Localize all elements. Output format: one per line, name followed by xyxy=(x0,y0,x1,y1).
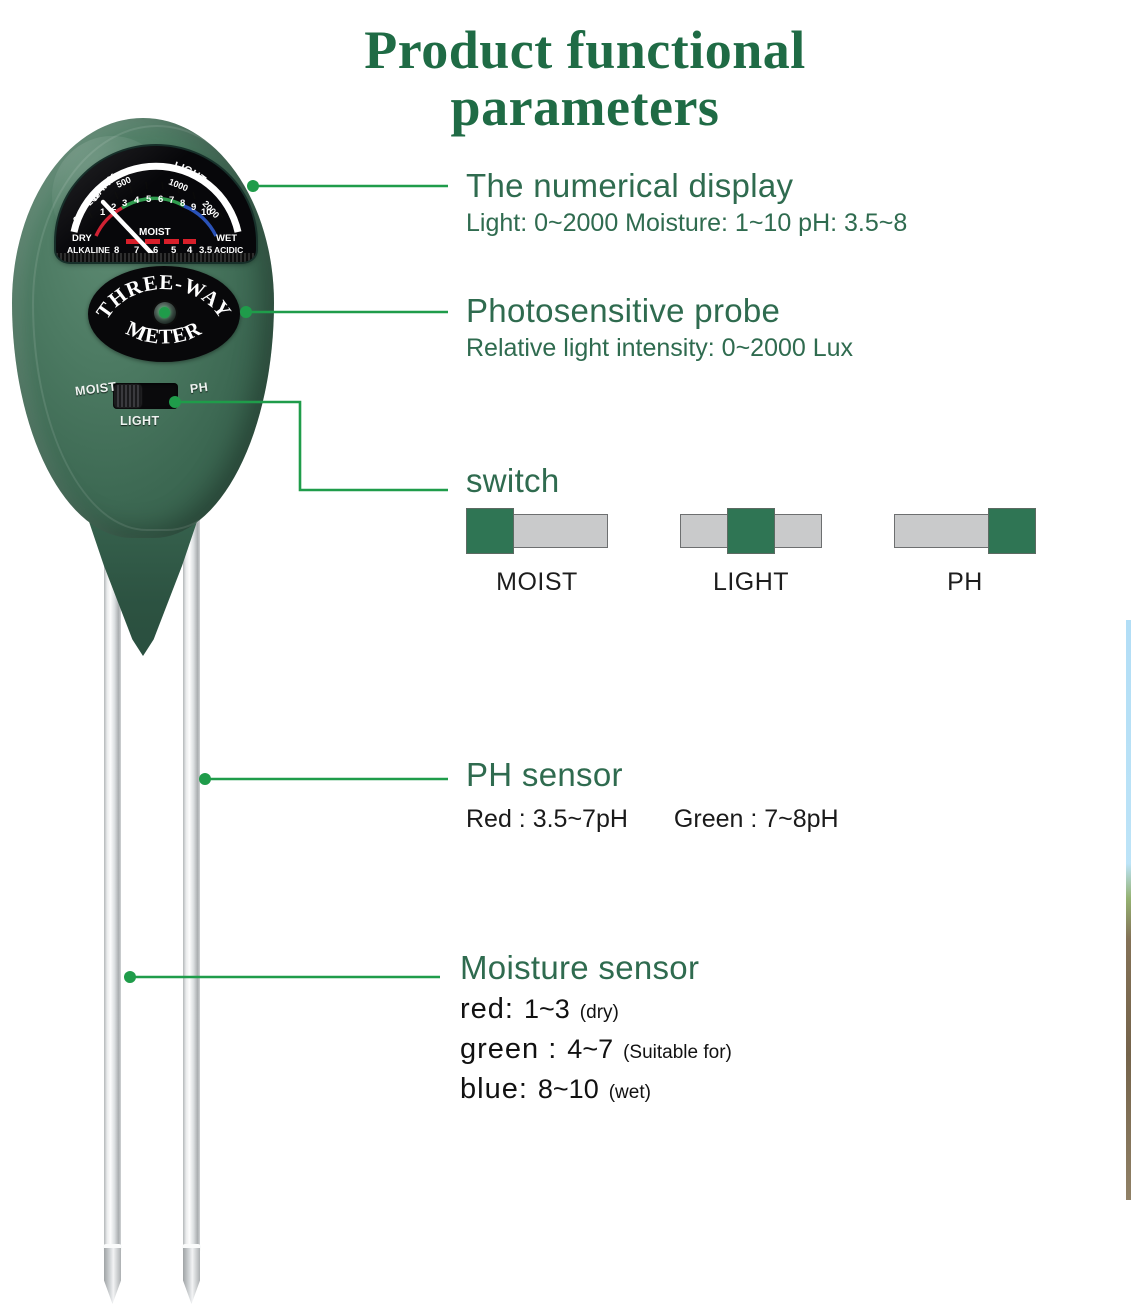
annotation-probe-heading: Photosensitive probe xyxy=(466,293,853,329)
annotation-ph-heading: PH sensor xyxy=(466,757,839,793)
moisture-row-green-note: (Suitable for) xyxy=(623,1042,732,1064)
switch-graphic-ph[interactable] xyxy=(894,508,1036,554)
annotation-display-detail: Light: 0~2000 Moisture: 1~10 pH: 3.5~8 xyxy=(466,208,907,239)
moisture-row-green-value: 4~7 xyxy=(567,1034,613,1065)
photosensitive-probe-lens xyxy=(154,302,176,324)
moisture-row-blue-key: blue: xyxy=(460,1073,528,1106)
switch-graphic-light[interactable] xyxy=(680,508,822,554)
switch-diagram-label-light: LIGHT xyxy=(680,568,822,597)
switch-knob-light[interactable] xyxy=(727,508,775,554)
page-title: Product functional parameters xyxy=(255,22,915,135)
switch-diagram-label-moist: MOIST xyxy=(466,568,608,597)
annotation-switch: switch xyxy=(466,463,560,499)
annotation-switch-heading: switch xyxy=(466,463,560,499)
ph-probe xyxy=(183,496,200,1258)
switch-diagram-moist[interactable]: MOIST xyxy=(466,508,608,597)
analog-gauge: DARK LIGHT 0 200 500 1000 2000 123 456 xyxy=(56,146,256,262)
soil-meter-device: DARK LIGHT 0 200 500 1000 2000 123 456 xyxy=(0,118,300,1200)
probe-tip-right xyxy=(183,1248,200,1304)
moisture-row-green: green : 4~7 (Suitable for) xyxy=(460,1033,732,1066)
annotation-photosensitive-probe: Photosensitive probe Relative light inte… xyxy=(466,293,853,365)
moisture-probe xyxy=(104,496,121,1258)
annotation-probe-detail: Relative light intensity: 0~2000 Lux xyxy=(466,333,853,364)
moisture-row-blue: blue: 8~10 (wet) xyxy=(460,1073,732,1106)
moisture-row-green-key: green : xyxy=(460,1033,557,1066)
page-title-line2: parameters xyxy=(255,79,915,136)
device-mode-switch[interactable] xyxy=(113,383,178,409)
infographic-canvas: Product functional parameters xyxy=(0,0,1131,1200)
moisture-row-blue-note: (wet) xyxy=(609,1082,651,1104)
annotation-ph-red: Red : 3.5~7pH xyxy=(466,805,628,834)
annotation-moisture-sensor: Moisture sensor red: 1~3 (dry) green : 4… xyxy=(460,950,732,1106)
device-switch-label-light: LIGHT xyxy=(120,414,160,428)
annotation-ph-sensor: PH sensor Red : 3.5~7pH Green : 7~8pH xyxy=(466,757,839,834)
switch-knob-ph[interactable] xyxy=(988,508,1036,554)
switch-diagram-label-ph: PH xyxy=(894,568,1036,597)
switch-graphic-moist[interactable] xyxy=(466,508,608,554)
switch-knob-moist[interactable] xyxy=(466,508,514,554)
page-title-line1: Product functional xyxy=(364,20,806,80)
annotation-display-heading: The numerical display xyxy=(466,168,907,204)
moisture-row-red: red: 1~3 (dry) xyxy=(460,993,732,1026)
moisture-row-red-key: red: xyxy=(460,993,514,1026)
device-mode-switch-knob[interactable] xyxy=(115,385,141,407)
three-way-meter-badge: THREE-WAY METER xyxy=(88,266,240,362)
annotation-ph-green: Green : 7~8pH xyxy=(674,805,839,834)
switch-diagram-light[interactable]: LIGHT xyxy=(680,508,822,597)
moisture-row-red-value: 1~3 xyxy=(524,994,570,1025)
annotation-numerical-display: The numerical display Light: 0~2000 Mois… xyxy=(466,168,907,240)
annotation-moisture-heading: Moisture sensor xyxy=(460,950,732,986)
annotation-ph-values: Red : 3.5~7pH Green : 7~8pH xyxy=(466,805,839,834)
probe-lens-dot xyxy=(159,307,170,318)
switch-diagram-ph[interactable]: PH xyxy=(894,508,1036,597)
device-switch-label-ph: PH xyxy=(189,380,209,396)
moisture-row-red-note: (dry) xyxy=(580,1002,619,1024)
moisture-row-blue-value: 8~10 xyxy=(538,1074,599,1105)
adjacent-image-sliver xyxy=(1126,620,1131,1200)
probe-tip-left xyxy=(104,1248,121,1304)
